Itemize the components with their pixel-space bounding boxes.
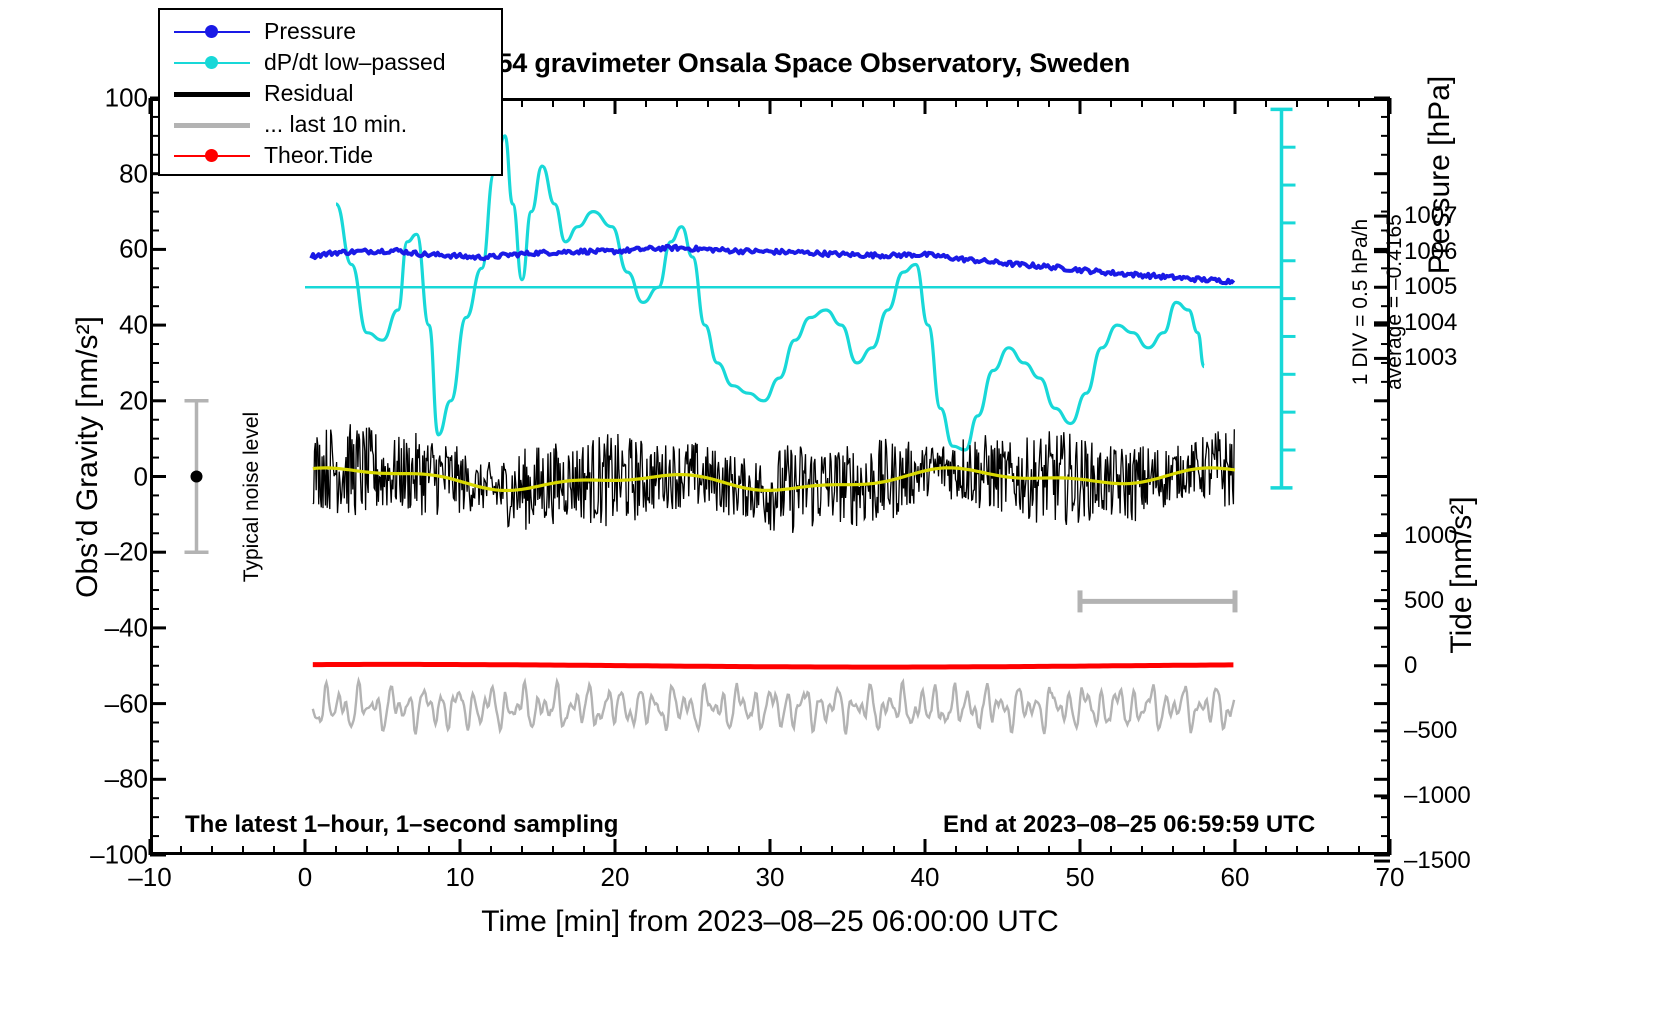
legend-item-2[interactable]: Residual — [160, 78, 501, 109]
xtick-label: 30 — [756, 862, 785, 893]
xtick-label: 40 — [911, 862, 940, 893]
legend-marker-dot — [205, 56, 218, 69]
xtick-label: 70 — [1376, 862, 1405, 893]
legend-item-1[interactable]: dP/dt low–passed — [160, 47, 501, 78]
legend-item-3[interactable]: ... last 10 min. — [160, 109, 501, 140]
end-time-note: End at 2023–08–25 06:59:59 UTC — [943, 811, 1315, 839]
ytick-label: 0 — [134, 461, 148, 492]
legend-marker-dot — [205, 149, 218, 162]
legend-label: Theor.Tide — [250, 142, 373, 169]
ytick-label: 80 — [119, 158, 148, 189]
legend-swatch-icon — [174, 115, 250, 135]
average-label: average = –0.4165 — [1383, 192, 1407, 412]
ytick-label: 60 — [119, 234, 148, 265]
tide-ytick-label: –1000 — [1404, 782, 1471, 810]
legend-swatch-icon — [174, 146, 250, 166]
ytick-label: 40 — [119, 310, 148, 341]
sampling-note: The latest 1–hour, 1–second sampling — [185, 811, 618, 839]
xtick-label: 0 — [298, 862, 312, 893]
ytick-label: –20 — [105, 537, 148, 568]
ytick-label: 100 — [105, 83, 148, 114]
xtick-label: 20 — [601, 862, 630, 893]
legend-swatch-icon — [174, 22, 250, 42]
legend-label: Pressure — [250, 18, 356, 45]
legend-label: dP/dt low–passed — [250, 49, 446, 76]
x-axis-title: Time [min] from 2023–08–25 06:00:00 UTC — [150, 905, 1390, 939]
legend-label: ... last 10 min. — [250, 111, 407, 138]
ytick-label: 20 — [119, 385, 148, 416]
tide-ytick-label: –1500 — [1404, 847, 1471, 875]
tide-ytick-label: 500 — [1404, 587, 1444, 615]
ytick-label: –60 — [105, 688, 148, 719]
ytick-label: –80 — [105, 764, 148, 795]
legend-label: Residual — [250, 80, 354, 107]
ytick-label: –40 — [105, 612, 148, 643]
legend-item-0[interactable]: Pressure — [160, 16, 501, 47]
tide-axis-title: Tide [nm/s²] — [1445, 375, 1479, 775]
legend-swatch-icon — [174, 53, 250, 73]
xtick-label: –10 — [128, 862, 171, 893]
legend-swatch-icon — [174, 84, 250, 104]
xtick-label: 60 — [1221, 862, 1250, 893]
pressure-axis-title: Pressure [hPa] — [1423, 0, 1457, 385]
legend: PressuredP/dt low–passedResidual... last… — [158, 8, 503, 176]
gravimeter-plot-page: SCG_054 gravimeter Onsala Space Observat… — [0, 0, 1660, 1020]
xtick-label: 10 — [446, 862, 475, 893]
xtick-label: 50 — [1066, 862, 1095, 893]
tide-ytick-label: 0 — [1404, 652, 1417, 680]
plot-area — [150, 98, 1390, 855]
legend-item-4[interactable]: Theor.Tide — [160, 140, 501, 171]
left-axis-title: Obs’d Gravity [nm/s²] — [71, 137, 105, 777]
noise-level-label: Typical noise level — [240, 387, 264, 607]
div-scale-label: 1 DIV = 0.5 hPa/h — [1349, 192, 1373, 412]
legend-marker-dot — [205, 25, 218, 38]
